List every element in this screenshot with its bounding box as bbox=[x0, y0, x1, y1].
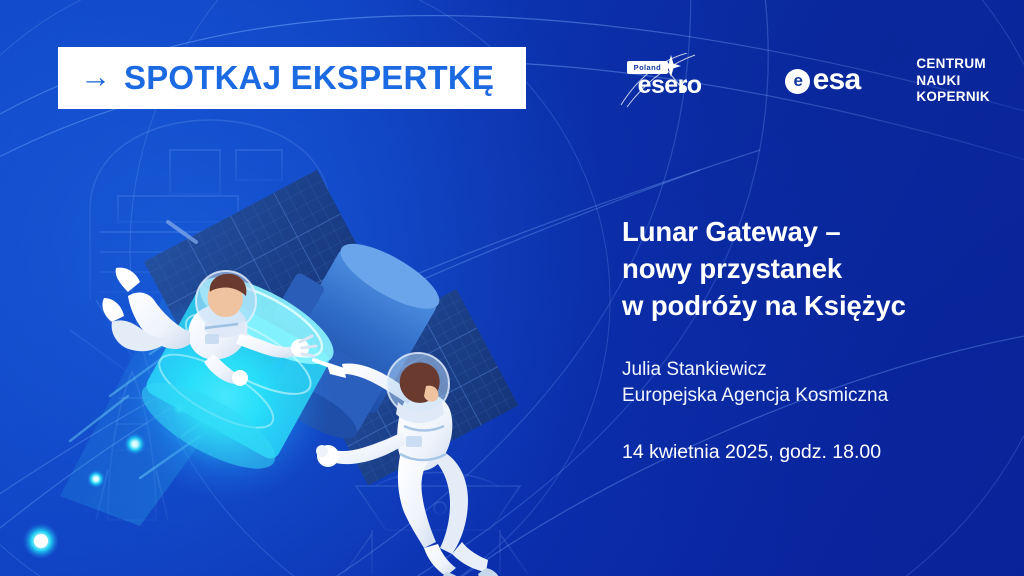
logo-centrum-nauki-kopernik: CENTRUM NAUKI KOPERNIK bbox=[916, 52, 990, 110]
event-title: Lunar Gateway – nowy przystanek w podróż… bbox=[622, 214, 1000, 325]
event-title-line-1: Lunar Gateway – bbox=[622, 214, 1000, 251]
logo-esero-poland: Poland esero bbox=[619, 52, 729, 110]
event-details: Lunar Gateway – nowy przystanek w podróż… bbox=[622, 214, 1000, 464]
speaker-name: Julia Stankiewicz bbox=[622, 357, 1000, 384]
esa-mark-letter: e bbox=[793, 72, 802, 89]
speaker-block: Julia Stankiewicz Europejska Agencja Kos… bbox=[622, 357, 1000, 410]
kopernik-line-2: NAUKI bbox=[916, 73, 990, 89]
kopernik-line-3: KOPERNIK bbox=[916, 89, 990, 105]
kopernik-line-1: CENTRUM bbox=[916, 56, 990, 72]
arrow-right-icon: → bbox=[80, 61, 111, 92]
webinar-poster: Dwoje astronautów unoszących się obok st… bbox=[0, 0, 1024, 576]
banner-label: SPOTKAJ EKSPERTKĘ bbox=[124, 59, 494, 97]
logo-esa: e esa bbox=[785, 52, 861, 110]
speaker-organization: Europejska Agencja Kosmiczna bbox=[622, 383, 1000, 410]
lunar-gateway-illustration: Dwoje astronautów unoszących się obok st… bbox=[0, 96, 620, 576]
esero-wordmark: esero bbox=[638, 71, 702, 100]
esa-wordmark: esa bbox=[813, 63, 861, 97]
event-title-line-2: nowy przystanek bbox=[622, 251, 1000, 288]
event-title-line-3: w podróży na Księżyc bbox=[622, 288, 1000, 325]
meet-the-expert-banner: → SPOTKAJ EKSPERTKĘ bbox=[58, 47, 526, 109]
esa-circle-mark: e bbox=[785, 69, 810, 94]
partner-logos: Poland esero e esa CENTRUM NAUKI KOPERNI… bbox=[619, 52, 990, 110]
event-datetime: 14 kwietnia 2025, godz. 18.00 bbox=[622, 441, 1000, 464]
